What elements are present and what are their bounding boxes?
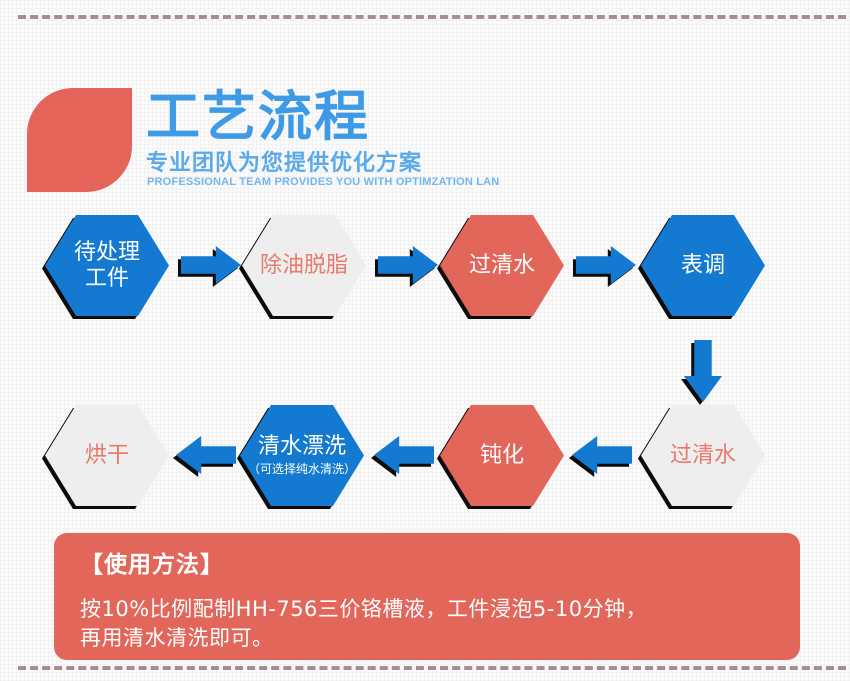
arrow-body	[684, 340, 722, 402]
arrow-left-icon	[374, 436, 434, 474]
flow-step-2: 除油脱脂	[242, 215, 366, 316]
flow-step-6: 钝化	[440, 405, 564, 506]
flow-step-5: 过清水	[641, 405, 765, 506]
hex-label-line1: 过清水	[469, 253, 535, 279]
arrow-right-icon	[378, 246, 438, 284]
usage-panel-text: 按10%比例配制HH-756三价铬槽液，工件浸泡5-10分钟， 再用清水清洗即可…	[80, 595, 774, 653]
flow-step-8: 烘干	[45, 405, 169, 506]
arrow-down-icon	[684, 340, 722, 402]
hex-label-line1: 除油脱脂	[260, 253, 348, 279]
hex-label-line1: 钝化	[480, 443, 524, 469]
bottom-dashed-divider	[18, 666, 846, 670]
flow-step-4: 表调	[641, 215, 765, 316]
page-title: 工艺流程	[146, 88, 370, 146]
arrow-body	[576, 246, 636, 284]
flow-step-7: 清水漂洗 （可选择纯水清洗）	[240, 405, 364, 506]
arrow-left-icon	[572, 436, 632, 474]
process-flow-infographic: 工艺流程 专业团队为您提供优化方案 PROFESSIONAL TEAM PROV…	[0, 0, 850, 681]
arrow-body	[176, 436, 236, 474]
leaf-logo-icon	[27, 88, 132, 192]
usage-panel-line2: 再用清水清洗即可。	[80, 624, 774, 653]
arrow-body	[378, 246, 438, 284]
hex-label-line1: 表调	[681, 253, 725, 279]
page-subtitle: 专业团队为您提供优化方案	[146, 152, 422, 176]
hex-label-line1: 过清水	[670, 443, 736, 469]
flow-step-3: 过清水	[440, 215, 564, 316]
flow-step-1: 待处理 工件	[45, 215, 169, 316]
arrow-body	[181, 246, 241, 284]
arrow-right-icon	[576, 246, 636, 284]
usage-panel-title: 【使用方法】	[80, 551, 774, 579]
arrow-body	[374, 436, 434, 474]
page-subtitle-english: PROFESSIONAL TEAM PROVIDES YOU WITH OPTI…	[147, 176, 499, 188]
hex-label-line1: 烘干	[85, 443, 129, 469]
hex-label-line1: 待处理	[74, 240, 140, 266]
arrow-right-icon	[181, 246, 241, 284]
hex-sublabel: （可选择纯水清洗）	[248, 462, 356, 477]
top-dashed-divider	[18, 15, 846, 19]
hex-label-line2: 工件	[85, 266, 129, 292]
hex-label-line1: 清水漂洗	[258, 434, 346, 460]
usage-panel-line1: 按10%比例配制HH-756三价铬槽液，工件浸泡5-10分钟，	[80, 595, 774, 624]
arrow-left-icon	[176, 436, 236, 474]
arrow-body	[572, 436, 632, 474]
usage-instructions-panel: 【使用方法】 按10%比例配制HH-756三价铬槽液，工件浸泡5-10分钟， 再…	[54, 533, 800, 660]
